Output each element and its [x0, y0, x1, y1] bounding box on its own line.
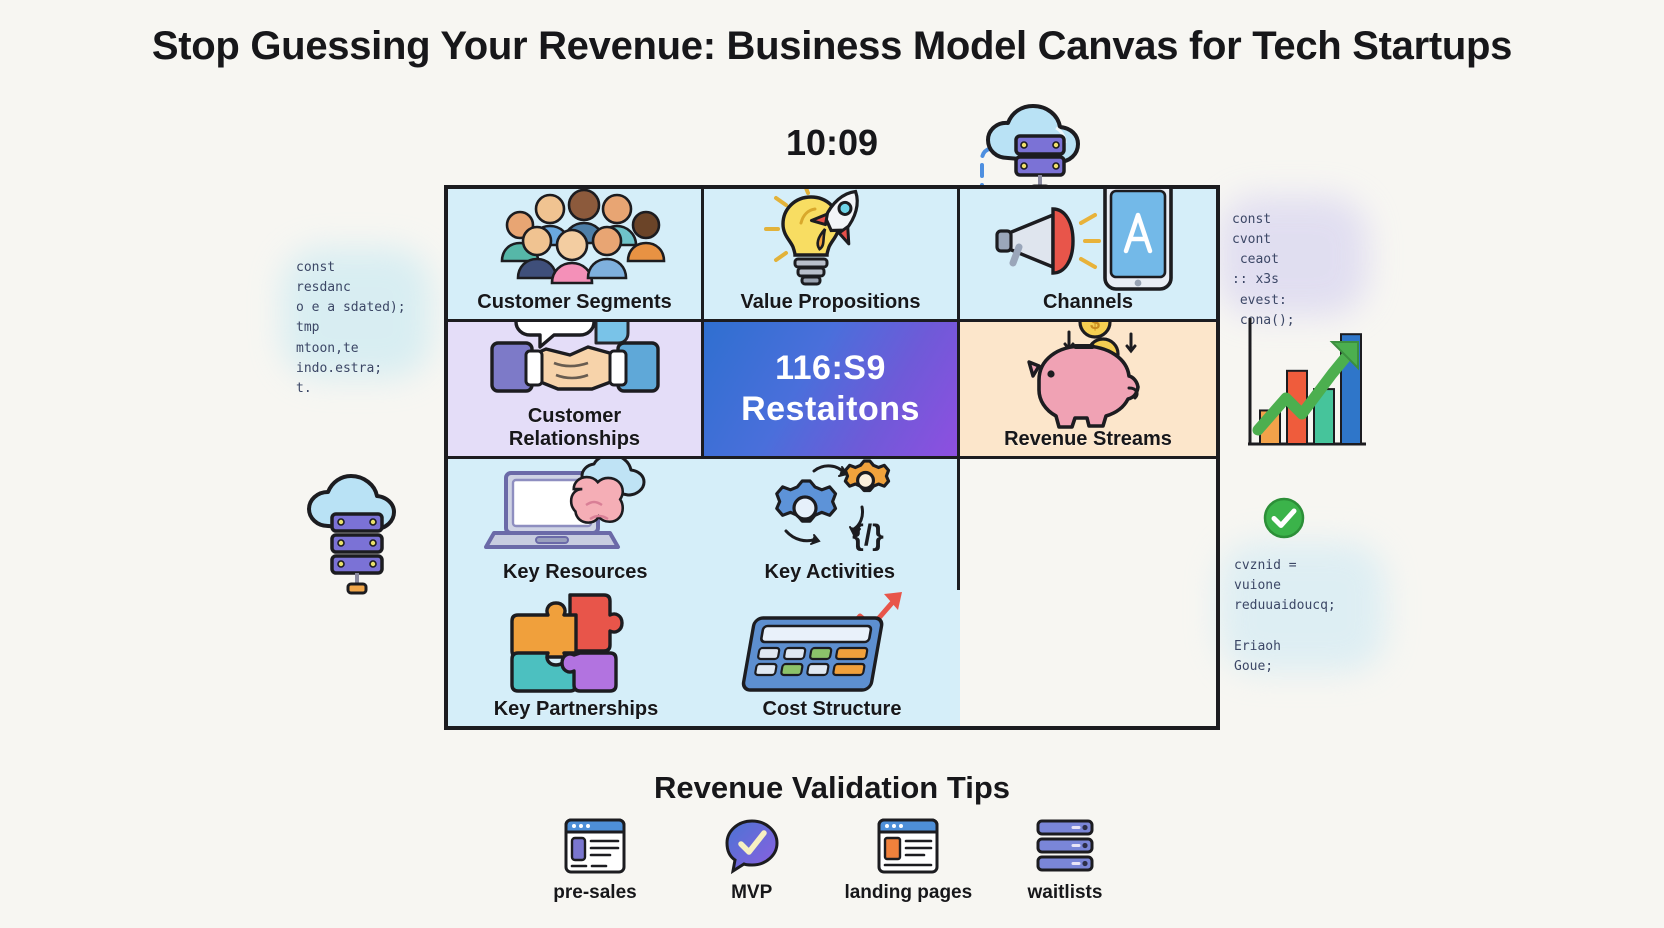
canvas-cell-label: Value Propositions	[740, 291, 920, 313]
canvas-cell-center-highlight[interactable]: 116:S9 Restaitons	[704, 322, 960, 459]
center-line-1: 116:S9	[775, 349, 886, 388]
canvas-cell-label: Key Partnerships	[494, 698, 659, 720]
laptop-brain-icon	[448, 459, 703, 561]
canvas-cell-label: Key Activities	[765, 561, 895, 583]
check-bubble-icon	[724, 818, 780, 874]
canvas-cell-label: Revenue Streams	[1004, 428, 1172, 450]
handshake-chat-icon	[448, 322, 701, 405]
code-snippet-left: const resdanc o e a sdated); tmp mtoon,t…	[296, 258, 406, 399]
lightbulb-rocket-icon	[704, 189, 957, 291]
puzzle-pieces-icon	[448, 590, 704, 698]
calculator-chart-icon	[704, 590, 960, 698]
server-stack-icon	[1035, 818, 1095, 874]
canvas-cell-key-resources[interactable]: Key Resources	[448, 459, 703, 590]
tip-label: pre-sales	[553, 882, 636, 904]
canvas-cell-label: Customer Relationships	[509, 405, 640, 450]
business-model-canvas-grid: Customer Segments	[444, 185, 1220, 730]
canvas-cell-channels[interactable]: Channels	[960, 189, 1216, 322]
page-title: Stop Guessing Your Revenue: Business Mod…	[0, 24, 1664, 69]
tip-item-waitlists[interactable]: waitlists	[990, 818, 1140, 904]
clock-readout: 10:09	[0, 122, 1664, 164]
validation-tips-row: pre-sales MVP	[520, 818, 1140, 904]
gears-code-icon: {/}	[703, 459, 958, 561]
tip-item-landing-pages[interactable]: landing pages	[833, 818, 983, 904]
cloud-server-icon-left	[300, 478, 412, 596]
piggy-bank-coins-icon: $ $	[960, 322, 1216, 428]
growth-bar-chart	[1240, 312, 1370, 452]
canvas-cell-label: Key Resources	[503, 561, 648, 583]
svg-text:{/}: {/}	[852, 519, 884, 552]
canvas-cell-customer-segments[interactable]: Customer Segments	[448, 189, 704, 322]
canvas-cell-label: Customer Segments	[477, 291, 672, 313]
canvas-cell-partnerships-cost: Key Partnerships	[448, 590, 960, 726]
people-group-icon	[448, 189, 701, 291]
browser-mobile-mockup-icon	[564, 818, 626, 874]
megaphone-phone-icon	[960, 189, 1216, 291]
svg-text:$: $	[1090, 322, 1100, 333]
green-check-icon	[1262, 496, 1306, 540]
poster-canvas: Stop Guessing Your Revenue: Business Mod…	[0, 0, 1664, 928]
tip-item-pre-sales[interactable]: pre-sales	[520, 818, 670, 904]
canvas-cell-cost-structure[interactable]: Cost Structure	[704, 590, 960, 726]
center-line-2: Restaitons	[741, 390, 920, 429]
tip-item-mvp[interactable]: MVP	[677, 818, 827, 904]
code-snippet-right-bottom: cvznid = vuione reduuaidoucq; Eriaoh Gou…	[1234, 556, 1336, 677]
footer-title: Revenue Validation Tips	[0, 770, 1664, 806]
center-overlay-text: 116:S9 Restaitons	[704, 322, 957, 456]
tip-label: MVP	[731, 882, 772, 904]
canvas-cell-customer-relationships[interactable]: Customer Relationships	[448, 322, 704, 459]
canvas-cell-resources-activities: Key Resources	[448, 459, 960, 590]
canvas-cell-revenue-streams[interactable]: $ $ Revenue Streams	[960, 322, 1216, 459]
browser-article-icon	[877, 818, 939, 874]
canvas-cell-label: Channels	[1043, 291, 1133, 313]
tip-label: waitlists	[1027, 882, 1102, 904]
canvas-cell-key-activities[interactable]: {/} Key Activities	[703, 459, 958, 590]
canvas-cell-value-propositions[interactable]: Value Propositions	[704, 189, 960, 322]
canvas-cell-key-partnerships[interactable]: Key Partnerships	[448, 590, 704, 726]
tip-label: landing pages	[844, 882, 972, 904]
canvas-cell-label: Cost Structure	[763, 698, 902, 720]
